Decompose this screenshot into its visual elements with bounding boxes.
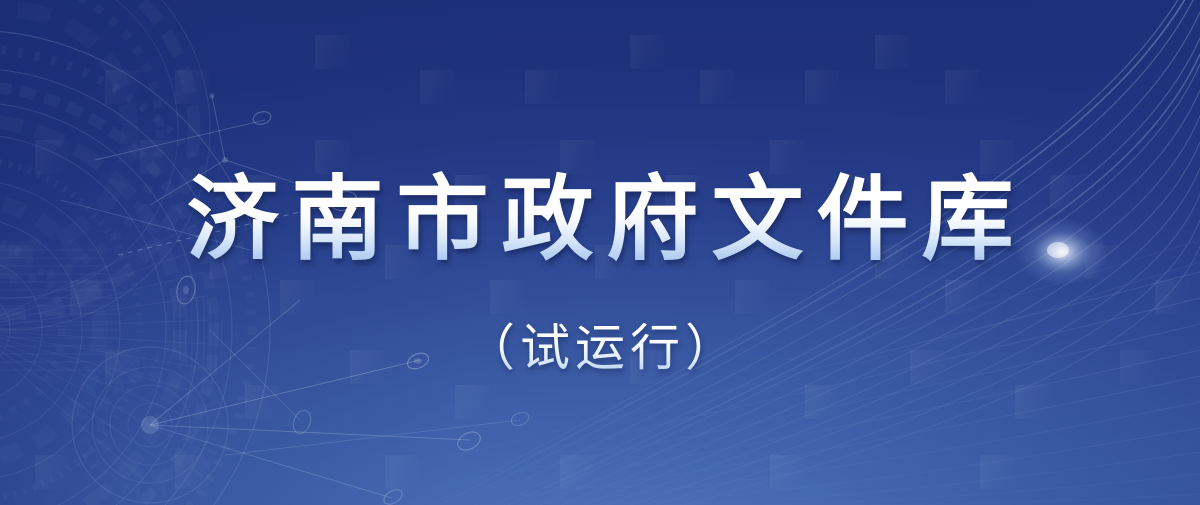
site-header-banner: 济南市政府文件库 （试运行） xyxy=(0,0,1200,505)
right-flowing-strands-decoration xyxy=(0,0,1200,505)
